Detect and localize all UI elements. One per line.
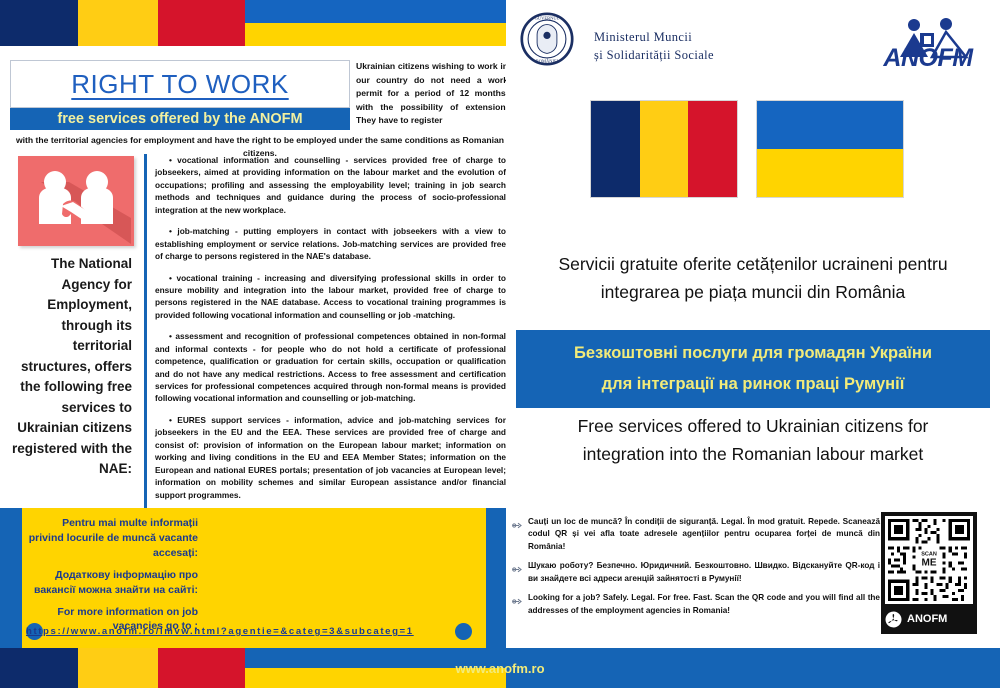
pdf-icon [885,611,902,628]
top-flag-band [0,0,506,46]
intro-paragraph-right: Ukrainian citizens wishing to work in ou… [356,60,508,128]
qr-label-text: ANOFM [907,613,947,625]
ministry-line-1: Ministerul Muncii [594,28,804,46]
heading-ukrainian-box: Безкоштовні послуги для громадян України… [516,330,990,408]
service-bullet: vocational information and counselling -… [155,154,506,216]
heading-en-line-1: Free services offered to Ukrainian citiz… [516,412,990,440]
footer-bar: www.anofm.ro [0,648,1000,688]
ministry-name: Ministerul Muncii și Solidarității Socia… [594,28,804,64]
cta-item-ro: Cauți un loc de muncă? În condiții de si… [512,516,880,553]
svg-text:ROMÂNIEI: ROMÂNIEI [536,58,559,63]
pointing-hand-icon [512,516,528,553]
cta-text-ua: Шукаю роботу? Безпечно. Юридичний. Безко… [528,560,880,585]
handshake-icon [18,156,134,246]
panel-right-blue-strip [486,508,506,648]
ukraine-flag [756,100,904,198]
panel-left-blue-strip [0,508,22,648]
romania-flag [590,100,738,198]
heading-english: Free services offered to Ukrainian citiz… [516,412,990,469]
left-content-panel: RIGHT TO WORK free services offered by t… [0,46,512,508]
leaflet-page: RIGHT TO WORK free services offered by t… [0,0,1000,688]
qr-scan-line-2: ME [921,558,937,568]
qr-code-block[interactable]: SCAN ME ANOFM [881,512,977,634]
svg-text:GUVERNUL: GUVERNUL [535,16,560,21]
pointing-hand-icon [512,560,528,585]
cta-item-ua: Шукаю роботу? Безпечно. Юридичний. Безко… [512,560,880,585]
ministry-line-2: și Solidarității Sociale [594,46,804,64]
page-title: RIGHT TO WORK [71,69,288,100]
vacancies-url-link[interactable]: https://www.anofm.ro/lmvw.html?agentie=&… [26,626,476,637]
qr-scan-me-label: SCAN ME [918,551,940,569]
cta-text-ro: Cauți un loc de muncă? În condiții de si… [528,516,880,553]
heading-romanian: Servicii gratuite oferite cetățenilor uc… [516,250,990,307]
service-bullet: EURES support services - information, ad… [155,414,506,501]
anofm-wordmark: ANOFM [874,44,982,73]
job-vacancies-panel: Pentru mai multe informații privind locu… [0,508,506,648]
footer-website-url[interactable]: www.anofm.ro [0,648,1000,688]
qr-caption: ANOFM [885,608,973,630]
heading-ua-line-2: для інтеграції на ринок праці Румунії [602,369,905,400]
qr-code-image[interactable]: SCAN ME [885,516,973,604]
services-bullet-list: vocational information and counselling -… [144,154,506,512]
heading-ua-line-1: Безкоштовні послуги для громадян України [574,338,932,369]
service-bullet: vocational training - increasing and div… [155,272,506,322]
ukraine-flag-yellow-stripe [245,23,506,46]
vacancies-text-ua: Додаткову інформацію про вакансії можна … [26,568,198,598]
government-seal-icon: GUVERNUL ROMÂNIEI [520,12,574,66]
ukraine-flag-blue-stripe [245,0,506,23]
cta-text-en: Looking for a job? Safely. Legal. For fr… [528,592,880,617]
cta-item-en: Looking for a job? Safely. Legal. For fr… [512,592,880,617]
romania-flag-navy-stripe [0,0,78,46]
service-bullet: assessment and recognition of profession… [155,330,506,405]
left-caption: The National Agency for Employment, thro… [8,254,132,480]
heading-ro-line-2: integrarea pe piața muncii din România [516,278,990,306]
romania-flag-red-stripe [158,0,245,46]
qr-call-to-action-list: Cauți un loc de muncă? În condiții de si… [512,516,880,624]
pointing-hand-icon [512,592,528,617]
heading-en-line-2: integration into the Romanian labour mar… [516,440,990,468]
vacancies-instructions: Pentru mai multe informații privind locu… [26,516,198,641]
romania-flag-yellow-stripe [78,0,158,46]
service-bullet: job-matching - putting employers in cont… [155,225,506,262]
heading-ro-line-1: Servicii gratuite oferite cetățenilor uc… [516,250,990,278]
vacancies-text-ro: Pentru mai multe informații privind locu… [26,516,198,561]
page-subtitle: free services offered by the ANOFM [10,108,350,130]
right-to-work-title-box: RIGHT TO WORK [10,60,350,108]
